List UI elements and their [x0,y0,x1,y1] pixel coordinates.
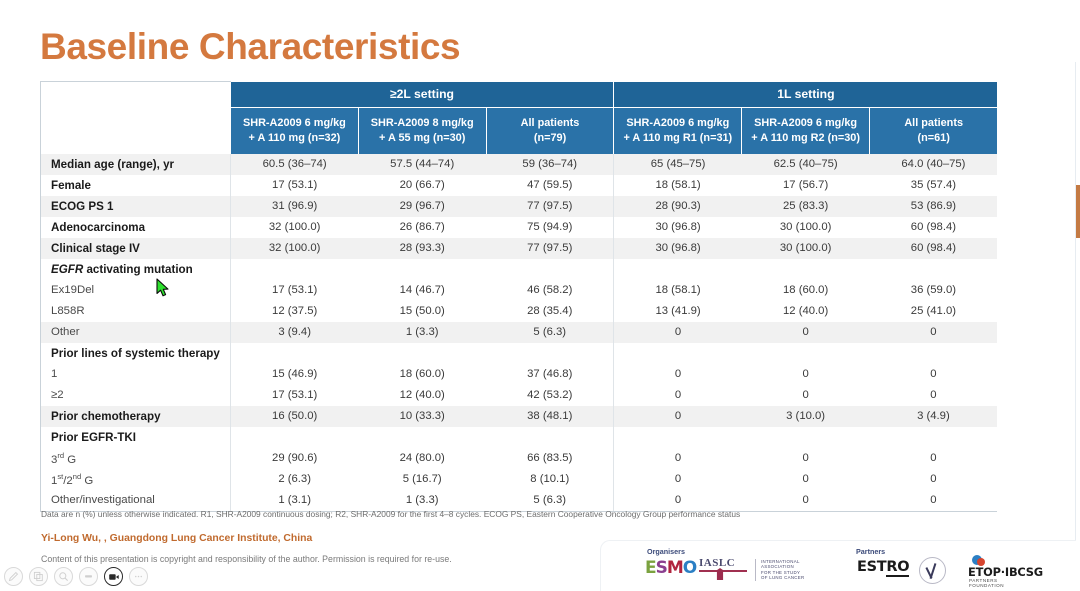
row-label-rest: activating mutation [83,263,193,276]
cell-r15-c1: 5 (16.7) [358,469,486,490]
group-header-row: ≥2L setting 1L setting [41,82,998,108]
table-row: Median age (range), yr60.5 (36–74)57.5 (… [41,154,998,175]
cell-r8-c5: 0 [870,322,998,343]
cell-r9-c1 [358,343,486,364]
cell-r3-c0: 32 (100.0) [231,217,359,238]
cell-r4-c0: 32 (100.0) [231,238,359,259]
table-row: Female17 (53.1)20 (66.7)47 (59.5)18 (58.… [41,175,998,196]
etop-sub: PARTNERS FOUNDATION [969,578,1004,588]
cell-r11-c5: 0 [870,385,998,406]
cell-r16-c0: 1 (3.1) [231,490,359,511]
row-label: EGFR activating mutation [41,259,231,280]
column-header-3-line1: SHR-A2009 6 mg/kg [614,116,741,131]
row-label: Other [41,322,231,343]
cell-r4-c2: 77 (97.5) [486,238,614,259]
table-row: Other3 (9.4)1 (3.3)5 (6.3)000 [41,322,998,343]
cell-r10-c0: 15 (46.9) [231,364,359,385]
column-header-4-line1: SHR-A2009 6 mg/kg [742,116,869,131]
cell-r16-c5: 0 [870,490,998,511]
cell-r7-c5: 25 (41.0) [870,301,998,322]
table-row: 1st/2nd G2 (6.3)5 (16.7)8 (10.1)000 [41,469,998,490]
table-row: Prior chemotherapy16 (50.0)10 (33.3)38 (… [41,406,998,427]
cell-r16-c1: 1 (3.3) [358,490,486,511]
cell-r11-c4: 0 [742,385,870,406]
cell-r4-c1: 28 (93.3) [358,238,486,259]
author-line: Yi-Long Wu, , Guangdong Lung Cancer Inst… [41,533,312,544]
cell-r0-c0: 60.5 (36–74) [231,154,359,175]
bottom-toolbar[interactable] [4,567,148,586]
cell-r2-c2: 77 (97.5) [486,196,614,217]
estro-logo: ESTRO [857,559,909,575]
cell-r1-c5: 35 (57.4) [870,175,998,196]
baseline-characteristics-table: ≥2L setting 1L setting SHR-A2009 6 mg/kg… [40,81,997,512]
cell-r14-c3: 0 [614,448,742,469]
cell-r12-c5: 3 (4.9) [870,406,998,427]
cell-r1-c3: 18 (58.1) [614,175,742,196]
cell-r10-c5: 0 [870,364,998,385]
column-header-4-line2: + A 110 mg R2 (n=30) [742,131,869,146]
cell-r15-c0: 2 (6.3) [231,469,359,490]
row-label: Clinical stage IV [41,238,231,259]
cell-r4-c4: 30 (100.0) [742,238,870,259]
copyright-line: Content of this presentation is copyrigh… [41,554,452,564]
column-header-1-line2: + A 55 mg (n=30) [359,131,486,146]
table-row: 115 (46.9)18 (60.0)37 (46.8)000 [41,364,998,385]
cell-r10-c3: 0 [614,364,742,385]
iaslc-tagline-l4: OF LUNG CANCER [761,575,804,580]
cell-r9-c0 [231,343,359,364]
cell-r13-c5 [870,427,998,448]
cell-r10-c4: 0 [742,364,870,385]
cell-r9-c3 [614,343,742,364]
cell-r12-c4: 3 (10.0) [742,406,870,427]
cell-r6-c5: 36 (59.0) [870,280,998,301]
cell-r10-c1: 18 (60.0) [358,364,486,385]
iaslc-tagline: INTERNATIONAL ASSOCIATION FOR THE STUDY … [755,559,804,581]
cell-r14-c5: 0 [870,448,998,469]
table-body: Median age (range), yr60.5 (36–74)57.5 (… [41,154,998,511]
cell-r0-c1: 57.5 (44–74) [358,154,486,175]
video-camera-icon[interactable] [104,567,123,586]
cell-r13-c2 [486,427,614,448]
row-label: L858R [41,301,231,322]
row-label: ≥2 [41,385,231,406]
cell-r12-c0: 16 (50.0) [231,406,359,427]
minus-icon[interactable] [79,567,98,586]
column-header-2-line2: (n=79) [487,131,614,146]
cell-r15-c5: 0 [870,469,998,490]
column-header-1: SHR-A2009 8 mg/kg + A 55 mg (n=30) [358,108,486,154]
column-header-0-line1: SHR-A2009 6 mg/kg [231,116,358,131]
cell-r1-c4: 17 (56.7) [742,175,870,196]
column-header-1-line1: SHR-A2009 8 mg/kg [359,116,486,131]
cell-r13-c1 [358,427,486,448]
slide-canvas: Baseline Characteristics ≥2L setting 1L … [0,0,1080,591]
cell-r3-c5: 60 (98.4) [870,217,998,238]
cell-r5-c5 [870,259,998,280]
esmo-letter-e: E [645,558,656,578]
cell-r15-c3: 0 [614,469,742,490]
table-corner-cell [41,82,231,154]
row-label: Prior EGFR-TKI [41,427,231,448]
cell-r13-c0 [231,427,359,448]
row-label: Prior chemotherapy [41,406,231,427]
footer-logo-panel: Organisers Partners ESMO IASLC INTERNATI… [600,540,1076,591]
column-header-5-line1: All patients [870,116,997,131]
column-header-0: SHR-A2009 6 mg/kg + A 110 mg (n=32) [231,108,359,154]
cell-r7-c1: 15 (50.0) [358,301,486,322]
column-header-3: SHR-A2009 6 mg/kg + A 110 mg R1 (n=31) [614,108,742,154]
iaslc-logo: IASLC INTERNATIONAL ASSOCIATION FOR THE … [699,557,811,583]
cell-r12-c1: 10 (33.3) [358,406,486,427]
cell-r8-c2: 5 (6.3) [486,322,614,343]
cell-r7-c0: 12 (37.5) [231,301,359,322]
cell-r8-c4: 0 [742,322,870,343]
row-label: ECOG PS 1 [41,196,231,217]
right-edge-hairline [1075,62,1076,540]
row-label: Female [41,175,231,196]
table-row: L858R12 (37.5)15 (50.0)28 (35.4)13 (41.9… [41,301,998,322]
partners-caption: Partners [856,547,885,556]
cell-r16-c2: 5 (6.3) [486,490,614,511]
column-header-2: All patients (n=79) [486,108,614,154]
cell-r6-c2: 46 (58.2) [486,280,614,301]
cell-r6-c3: 18 (58.1) [614,280,742,301]
cell-r0-c4: 62.5 (40–75) [742,154,870,175]
table-footnote: Data are n (%) unless otherwise indicate… [41,509,740,519]
cell-r0-c3: 65 (45–75) [614,154,742,175]
cell-r12-c2: 38 (48.1) [486,406,614,427]
row-label: Ex19Del [41,280,231,301]
cell-r4-c5: 60 (98.4) [870,238,998,259]
esmo-letter-s: S [656,558,667,578]
cell-r11-c0: 17 (53.1) [231,385,359,406]
cell-r3-c2: 75 (94.9) [486,217,614,238]
cell-r14-c1: 24 (80.0) [358,448,486,469]
table-row: Ex19Del17 (53.1)14 (46.7)46 (58.2)18 (58… [41,280,998,301]
cell-r1-c0: 17 (53.1) [231,175,359,196]
cell-r1-c1: 20 (66.7) [358,175,486,196]
cell-r2-c1: 29 (96.7) [358,196,486,217]
column-header-0-line2: + A 110 mg (n=32) [231,131,358,146]
cell-r2-c3: 28 (90.3) [614,196,742,217]
cell-r11-c3: 0 [614,385,742,406]
cell-r13-c4 [742,427,870,448]
cell-r5-c3 [614,259,742,280]
table-row: ≥217 (53.1)12 (40.0)42 (53.2)000 [41,385,998,406]
esmo-logo: ESMO [645,558,696,578]
cell-r9-c4 [742,343,870,364]
cell-r3-c3: 30 (96.8) [614,217,742,238]
cell-r6-c1: 14 (46.7) [358,280,486,301]
cell-r8-c0: 3 (9.4) [231,322,359,343]
group-header-1l: 1L setting [614,82,997,108]
column-header-3-line2: + A 110 mg R1 (n=31) [614,131,741,146]
cell-r13-c3 [614,427,742,448]
cell-r14-c0: 29 (90.6) [231,448,359,469]
esmo-letter-m: M [667,558,683,578]
cell-r4-c3: 30 (96.8) [614,238,742,259]
estro-part1: EST [857,559,886,575]
row-label: 1st/2nd G [41,469,231,490]
table-head: ≥2L setting 1L setting SHR-A2009 6 mg/kg… [41,82,998,154]
right-accent-bar [1076,185,1080,238]
cell-r7-c3: 13 (41.9) [614,301,742,322]
data-table: ≥2L setting 1L setting SHR-A2009 6 mg/kg… [40,81,997,511]
cell-r8-c3: 0 [614,322,742,343]
cell-r6-c4: 18 (60.0) [742,280,870,301]
etop-name: ETOP·IBCSG [968,565,1043,579]
cell-r2-c4: 25 (83.3) [742,196,870,217]
cell-r10-c2: 37 (46.8) [486,364,614,385]
cell-r7-c2: 28 (35.4) [486,301,614,322]
copy-icon[interactable] [29,567,48,586]
group-header-2l: ≥2L setting [231,82,614,108]
table-row: Clinical stage IV32 (100.0)28 (93.3)77 (… [41,238,998,259]
cell-r15-c4: 0 [742,469,870,490]
table-row: Prior EGFR-TKI [41,427,998,448]
cell-r14-c2: 66 (83.5) [486,448,614,469]
cell-r7-c4: 12 (40.0) [742,301,870,322]
page-title: Baseline Characteristics [40,26,460,68]
row-label-italic: EGFR [51,263,83,276]
cell-r16-c3: 0 [614,490,742,511]
table-row: Adenocarcinoma32 (100.0)26 (86.7)75 (94.… [41,217,998,238]
row-label: Other/investigational [41,490,231,511]
row-label: Prior lines of systemic therapy [41,343,231,364]
row-label: Median age (range), yr [41,154,231,175]
cell-r11-c1: 12 (40.0) [358,385,486,406]
cell-r9-c5 [870,343,998,364]
cell-r15-c2: 8 (10.1) [486,469,614,490]
cell-r11-c2: 42 (53.2) [486,385,614,406]
organisers-caption: Organisers [647,547,685,556]
table-row: Other/investigational1 (3.1)1 (3.3)5 (6.… [41,490,998,511]
cell-r3-c1: 26 (86.7) [358,217,486,238]
cell-r2-c0: 31 (96.9) [231,196,359,217]
column-header-2-line1: All patients [487,116,614,131]
cell-r5-c2 [486,259,614,280]
column-header-4: SHR-A2009 6 mg/kg + A 110 mg R2 (n=30) [742,108,870,154]
cell-r14-c4: 0 [742,448,870,469]
cell-r8-c1: 1 (3.3) [358,322,486,343]
column-header-5-line2: (n=61) [870,131,997,146]
cell-r5-c4 [742,259,870,280]
mouse-cursor [156,278,171,298]
table-row: 3rd G29 (90.6)24 (80.0)66 (83.5)000 [41,448,998,469]
esmo-letter-o: O [683,558,696,578]
cell-r12-c3: 0 [614,406,742,427]
row-label: 3rd G [41,448,231,469]
cell-r1-c2: 47 (59.5) [486,175,614,196]
table-row: EGFR activating mutation [41,259,998,280]
cell-r5-c1 [358,259,486,280]
cell-r0-c5: 64.0 (40–75) [870,154,998,175]
row-label: 1 [41,364,231,385]
partner-circle-logo-icon [919,557,946,584]
column-header-5: All patients (n=61) [870,108,998,154]
pen-icon[interactable] [4,567,23,586]
cell-r3-c4: 30 (100.0) [742,217,870,238]
cell-r16-c4: 0 [742,490,870,511]
cell-r9-c2 [486,343,614,364]
cell-r0-c2: 59 (36–74) [486,154,614,175]
cell-r5-c0 [231,259,359,280]
row-label: Adenocarcinoma [41,217,231,238]
more-icon[interactable] [129,567,148,586]
table-row: ECOG PS 131 (96.9)29 (96.7)77 (97.5)28 (… [41,196,998,217]
cell-r2-c5: 53 (86.9) [870,196,998,217]
table-row: Prior lines of systemic therapy [41,343,998,364]
search-icon[interactable] [54,567,73,586]
cell-r6-c0: 17 (53.1) [231,280,359,301]
estro-part2: RO [886,559,909,577]
